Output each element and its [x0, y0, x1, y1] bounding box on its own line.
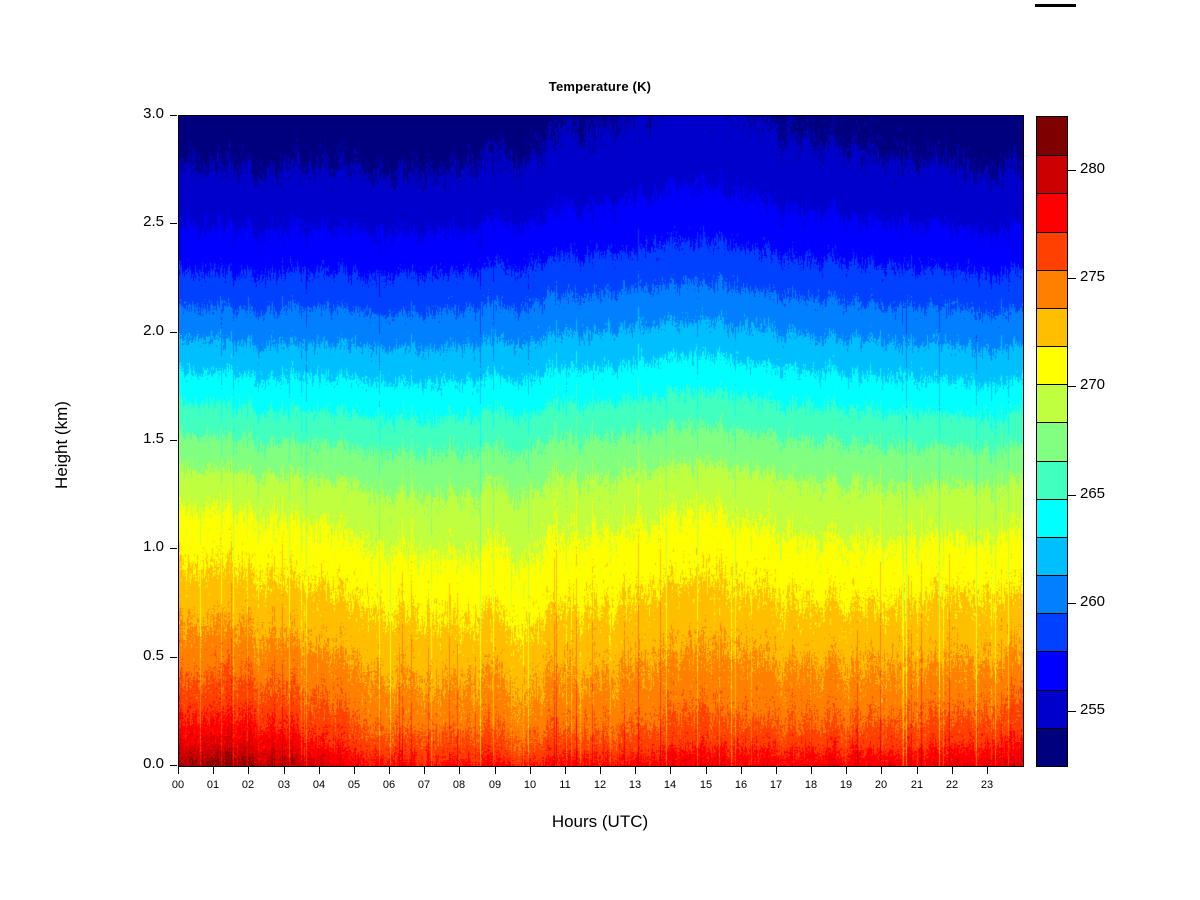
colorbar-band — [1037, 232, 1067, 271]
top-edge-artifact — [1035, 4, 1076, 7]
x-tick-label: 22 — [937, 779, 967, 791]
x-tick-mark — [670, 767, 671, 774]
x-tick-mark — [389, 767, 390, 774]
colorbar-band — [1037, 193, 1067, 232]
x-tick-label: 03 — [269, 779, 299, 791]
colorbar-band-separator — [1037, 728, 1067, 729]
colorbar-band-separator — [1037, 613, 1067, 614]
colorbar-band-separator — [1037, 651, 1067, 652]
colorbar-band — [1037, 461, 1067, 500]
y-tick-mark — [170, 765, 177, 766]
colorbar-band-separator — [1037, 308, 1067, 309]
x-tick-label: 02 — [233, 779, 263, 791]
colorbar-band — [1037, 613, 1067, 652]
colorbar-band — [1037, 346, 1067, 385]
temperature-heatmap — [179, 116, 1023, 766]
colorbar-band — [1037, 690, 1067, 729]
x-tick-mark — [776, 767, 777, 774]
colorbar-band-separator — [1037, 690, 1067, 691]
x-tick-mark — [213, 767, 214, 774]
colorbar-band — [1037, 499, 1067, 538]
x-tick-label: 15 — [691, 779, 721, 791]
x-tick-mark — [459, 767, 460, 774]
colorbar-tick-mark — [1068, 711, 1076, 712]
y-tick-label: 0.5 — [118, 647, 164, 664]
colorbar-tick-mark — [1068, 170, 1076, 171]
colorbar-tick-label: 255 — [1080, 701, 1105, 718]
colorbar-band — [1037, 308, 1067, 347]
x-tick-mark — [354, 767, 355, 774]
y-tick-mark — [170, 223, 177, 224]
colorbar-tick-mark — [1068, 278, 1076, 279]
colorbar[interactable] — [1036, 116, 1068, 767]
x-tick-mark — [565, 767, 566, 774]
y-axis-title: Height (km) — [52, 355, 72, 535]
y-tick-label: 0.0 — [118, 755, 164, 772]
y-tick-label: 1.5 — [118, 430, 164, 447]
colorbar-band-separator — [1037, 155, 1067, 156]
colorbar-tick-label: 265 — [1080, 485, 1105, 502]
colorbar-tick-mark — [1068, 495, 1076, 496]
x-tick-label: 13 — [620, 779, 650, 791]
y-tick-mark — [170, 548, 177, 549]
x-tick-label: 12 — [585, 779, 615, 791]
x-tick-mark — [741, 767, 742, 774]
colorbar-band-separator — [1037, 461, 1067, 462]
x-tick-mark — [284, 767, 285, 774]
colorbar-tick-mark — [1068, 603, 1076, 604]
colorbar-tick-label: 275 — [1080, 268, 1105, 285]
x-tick-mark — [635, 767, 636, 774]
colorbar-band-separator — [1037, 575, 1067, 576]
colorbar-tick-label: 260 — [1080, 593, 1105, 610]
x-tick-label: 18 — [796, 779, 826, 791]
y-tick-label: 2.0 — [118, 322, 164, 339]
y-tick-label: 1.0 — [118, 538, 164, 555]
x-tick-mark — [881, 767, 882, 774]
x-tick-label: 00 — [163, 779, 193, 791]
x-tick-label: 11 — [550, 779, 580, 791]
colorbar-band-separator — [1037, 422, 1067, 423]
x-tick-mark — [319, 767, 320, 774]
x-tick-mark — [248, 767, 249, 774]
x-tick-mark — [811, 767, 812, 774]
x-tick-mark — [424, 767, 425, 774]
x-tick-mark — [846, 767, 847, 774]
colorbar-tick-mark — [1068, 386, 1076, 387]
colorbar-band-separator — [1037, 270, 1067, 271]
x-tick-label: 16 — [726, 779, 756, 791]
colorbar-band — [1037, 537, 1067, 576]
temperature-time-height-figure: Temperature (K) 0.00.51.01.52.02.53.0 00… — [0, 0, 1200, 900]
colorbar-tick-label: 270 — [1080, 376, 1105, 393]
colorbar-band — [1037, 384, 1067, 423]
y-tick-label: 2.5 — [118, 213, 164, 230]
y-tick-mark — [170, 440, 177, 441]
x-tick-label: 20 — [866, 779, 896, 791]
colorbar-tick-label: 280 — [1080, 160, 1105, 177]
x-tick-label: 04 — [304, 779, 334, 791]
x-tick-label: 01 — [198, 779, 228, 791]
x-tick-mark — [600, 767, 601, 774]
x-tick-label: 05 — [339, 779, 369, 791]
x-tick-label: 08 — [444, 779, 474, 791]
colorbar-band-separator — [1037, 232, 1067, 233]
colorbar-band — [1037, 728, 1067, 767]
colorbar-band-separator — [1037, 499, 1067, 500]
x-tick-label: 10 — [515, 779, 545, 791]
colorbar-band — [1037, 155, 1067, 194]
x-tick-label: 21 — [902, 779, 932, 791]
x-tick-mark — [952, 767, 953, 774]
x-axis-title: Hours (UTC) — [178, 812, 1022, 832]
x-tick-label: 07 — [409, 779, 439, 791]
x-tick-label: 23 — [972, 779, 1002, 791]
colorbar-band — [1037, 651, 1067, 690]
colorbar-band — [1037, 270, 1067, 309]
colorbar-band — [1037, 575, 1067, 614]
x-tick-label: 17 — [761, 779, 791, 791]
x-tick-mark — [917, 767, 918, 774]
x-tick-mark — [987, 767, 988, 774]
colorbar-band — [1037, 117, 1067, 156]
x-tick-mark — [706, 767, 707, 774]
heatmap-plot-area[interactable] — [178, 115, 1024, 767]
x-tick-label: 06 — [374, 779, 404, 791]
colorbar-band-separator — [1037, 537, 1067, 538]
y-tick-mark — [170, 332, 177, 333]
colorbar-band-separator — [1037, 384, 1067, 385]
y-tick-label: 3.0 — [118, 105, 164, 122]
y-tick-mark — [170, 657, 177, 658]
x-tick-label: 19 — [831, 779, 861, 791]
y-tick-mark — [170, 115, 177, 116]
x-tick-mark — [178, 767, 179, 774]
x-tick-label: 09 — [480, 779, 510, 791]
x-tick-label: 14 — [655, 779, 685, 791]
x-tick-mark — [495, 767, 496, 774]
x-tick-mark — [530, 767, 531, 774]
page-title: Temperature (K) — [178, 79, 1022, 94]
colorbar-band-separator — [1037, 346, 1067, 347]
colorbar-band — [1037, 422, 1067, 461]
colorbar-band-separator — [1037, 193, 1067, 194]
